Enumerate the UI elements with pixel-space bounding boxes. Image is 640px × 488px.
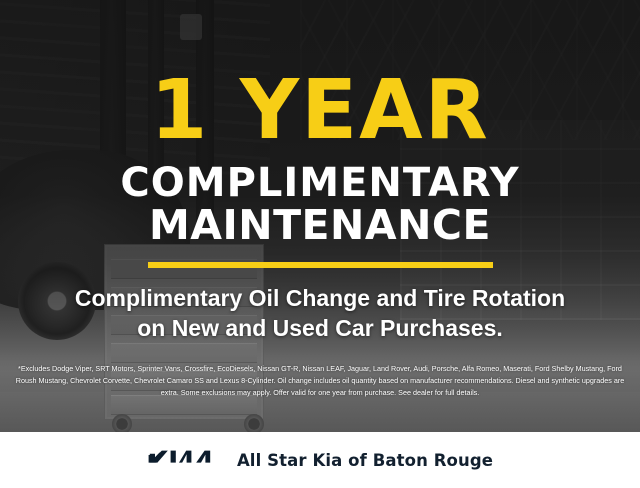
headline-subtitle-line-1: COMPLIMENTARY	[120, 160, 519, 206]
headline-subtitle-line-2: MAINTENANCE	[120, 204, 519, 247]
banner-content: 1 YEAR COMPLIMENTARY MAINTENANCE Complim…	[0, 0, 640, 488]
dealer-name-label: All Star Kia of Baton Rouge	[237, 451, 493, 470]
promotional-banner: 1 YEAR COMPLIMENTARY MAINTENANCE Complim…	[0, 0, 640, 488]
disclaimer-text: *Excludes Dodge Viper, SRT Motors, Sprin…	[14, 363, 626, 398]
dealer-footer-bar: All Star Kia of Baton Rouge	[0, 432, 640, 488]
offer-line-2: on New and Used Car Purchases.	[75, 314, 565, 344]
kia-logo-icon	[147, 447, 219, 474]
headline-subtitle: COMPLIMENTARY MAINTENANCE	[120, 162, 519, 248]
headline-year: 1 YEAR	[150, 74, 490, 148]
yellow-divider-rule	[148, 262, 493, 268]
offer-description: Complimentary Oil Change and Tire Rotati…	[75, 284, 565, 344]
offer-line-1: Complimentary Oil Change and Tire Rotati…	[75, 285, 565, 311]
